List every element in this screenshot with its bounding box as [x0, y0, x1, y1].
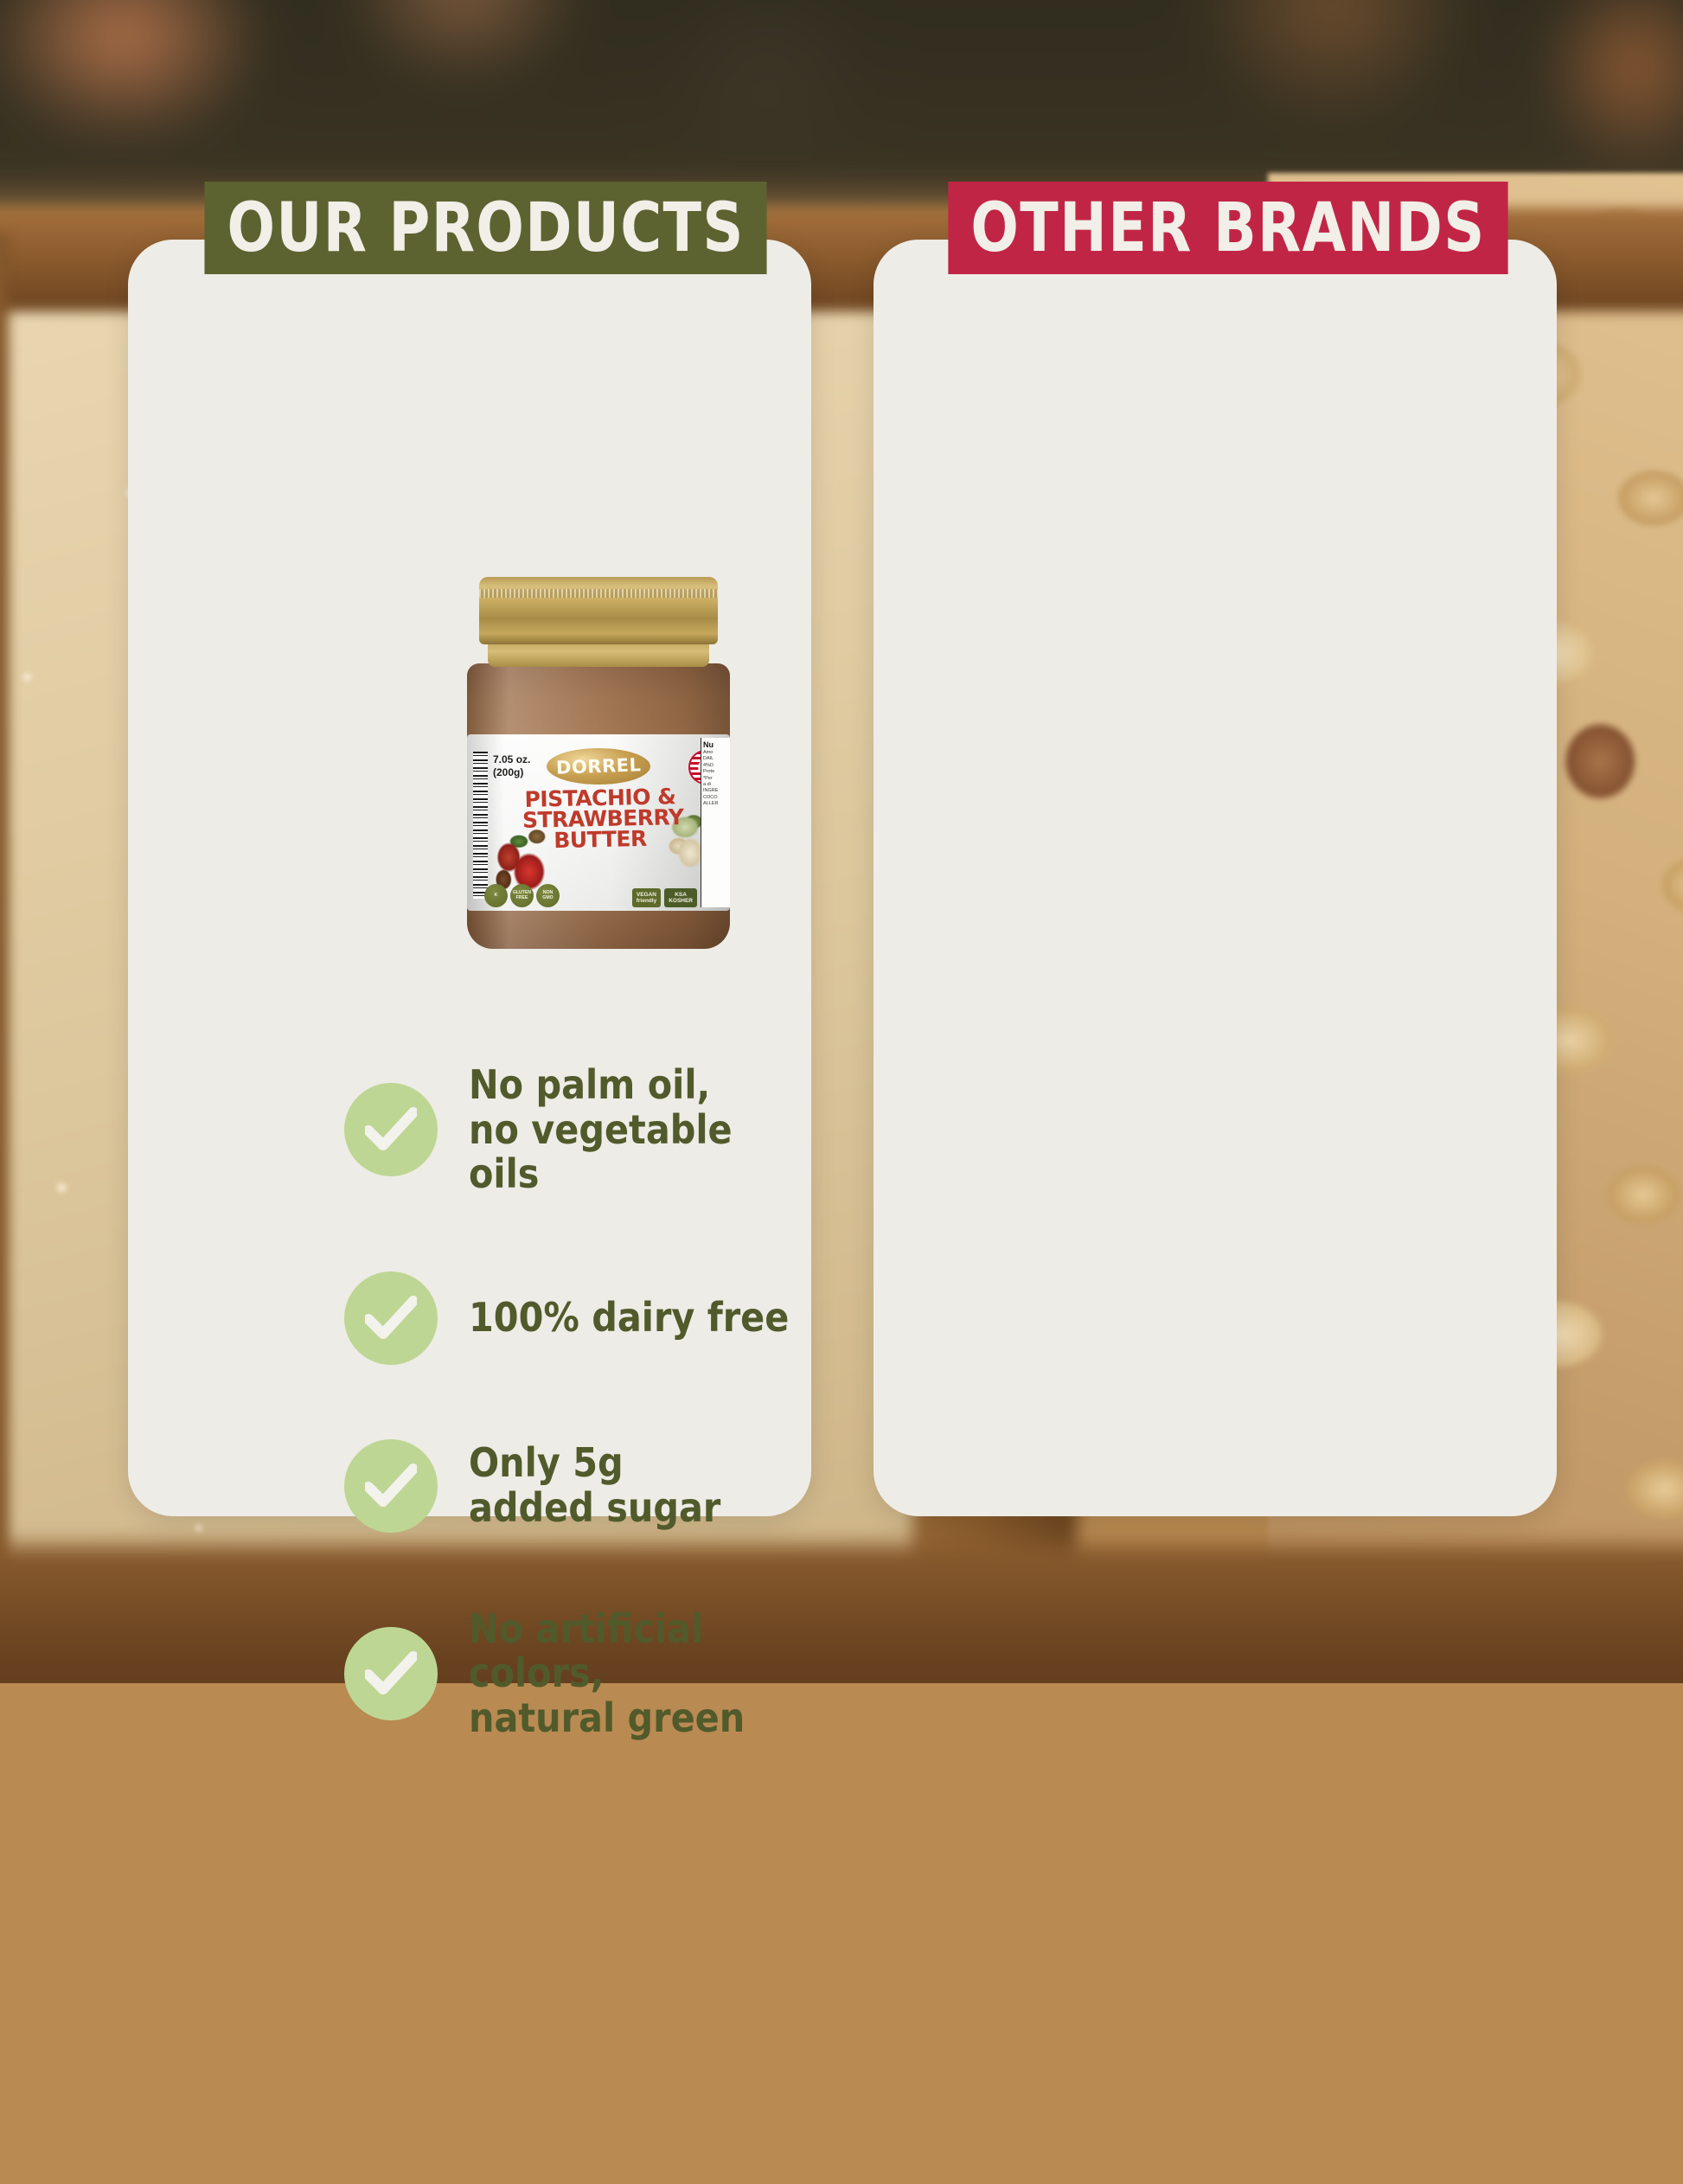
kosher-badge: K	[484, 884, 508, 907]
product-title: PISTACHIO & STRAWBERRY BUTTER	[522, 788, 678, 849]
nutrition-line: ALLER	[703, 801, 730, 807]
net-weight-oz: 7.05 oz.	[493, 753, 530, 766]
gluten-free-badge: GLUTEN FREE	[510, 884, 534, 907]
vegan-friendly-badge: VEGAN friendly	[632, 888, 661, 907]
list-item: Only 5g added sugar	[128, 1439, 811, 1533]
nutrition-facts-heading: Nu	[703, 741, 730, 750]
check-icon	[344, 1271, 438, 1365]
our-products-benefit-list: No palm oil, no vegetable oils 100% dair…	[128, 1063, 811, 1815]
brand-name: DORREL	[555, 754, 641, 778]
our-products-header-badge: OUR PRODUCTS	[204, 182, 766, 274]
list-item: Contains 15g or more added sugar	[873, 1669, 1683, 1898]
jar-neck	[488, 641, 709, 667]
list-item: 100% dairy free	[128, 1271, 811, 1365]
net-weight-text: 7.05 oz. (200g)	[493, 753, 530, 779]
check-icon	[344, 1627, 438, 1720]
ksa-kosher-badge: KSA KOSHER	[664, 888, 697, 907]
nutrition-line: a di	[703, 782, 730, 788]
product-title-line-3: BUTTER	[522, 828, 678, 852]
check-icon	[344, 1083, 438, 1176]
list-item: Contains skim milk or milk derivatives	[873, 1412, 1683, 1595]
nutrition-line: COCO	[703, 795, 730, 801]
nutrition-line: 4%D	[703, 763, 730, 769]
our-products-card: 7.05 oz. (200g) DORREL PISTACHIO & STRAW…	[128, 240, 811, 1516]
nutrition-line: *Per	[703, 776, 730, 782]
barcode-icon	[473, 752, 488, 899]
list-item: No palm oil, no vegetable oils	[128, 1063, 811, 1197]
other-brands-header-badge: OTHER BRANDS	[948, 182, 1507, 274]
benefit-text: Only 5g added sugar	[469, 1441, 720, 1530]
background-wood-tray-left	[0, 234, 9, 1683]
nutrition-line: DAIL	[703, 756, 730, 762]
list-item: Artificial colors added	[873, 1972, 1683, 2110]
other-brands-card: Made with palm oil or vegetable oils Con…	[873, 240, 1557, 1516]
benefit-text: No artificial colors, natural green	[469, 1607, 811, 1741]
list-item: Made with palm oil or vegetable oils	[873, 1063, 1683, 1337]
brand-oval: DORREL	[547, 748, 650, 785]
non-gmo-badge: NON GMO	[536, 884, 560, 907]
nutrition-facts-panel: Nu Amo DAIL 4%D Prote *Per a di INGRE CO…	[701, 738, 730, 907]
other-brands-drawback-list: Made with palm oil or vegetable oils Con…	[873, 1063, 1557, 2184]
product-label: 7.05 oz. (200g) DORREL PISTACHIO & STRAW…	[467, 734, 730, 911]
nutrition-line: Amo	[703, 750, 730, 756]
dorrel-pistachio-strawberry-butter-jar-image: 7.05 oz. (200g) DORREL PISTACHIO & STRAW…	[434, 577, 763, 949]
nutrition-line: Prote	[703, 769, 730, 775]
list-item: No artificial colors, natural green	[128, 1607, 811, 1741]
benefit-text: 100% dairy free	[469, 1296, 789, 1341]
certification-badges: K GLUTEN FREE NON GMO	[484, 884, 560, 907]
vegan-ksa-badges: VEGAN friendly KSA KOSHER	[632, 888, 697, 907]
net-weight-grams: (200g)	[493, 766, 530, 779]
nutrition-line: INGRE	[703, 788, 730, 794]
check-icon	[344, 1439, 438, 1533]
benefit-text: No palm oil, no vegetable oils	[469, 1063, 811, 1197]
gold-lid	[479, 577, 718, 644]
